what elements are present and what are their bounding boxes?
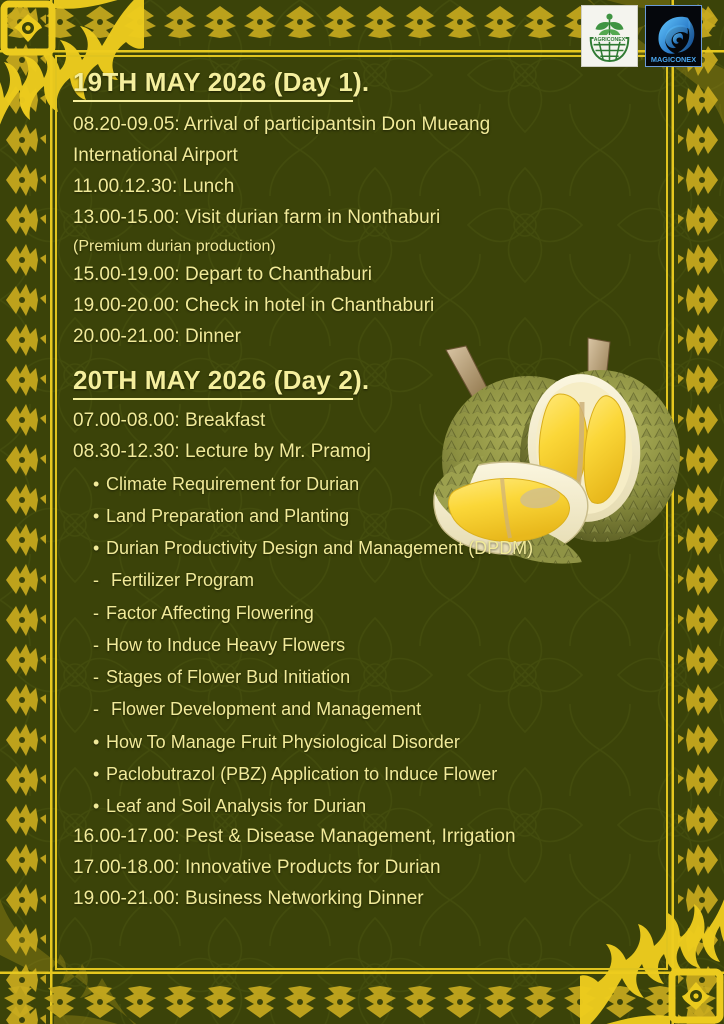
- list-marker: -: [93, 564, 106, 596]
- list-item: - Fertilizer Program: [73, 564, 650, 596]
- list-marker: -: [93, 693, 106, 725]
- day2-line-1: 07.00-08.00: Breakfast: [73, 406, 650, 437]
- day1-line-3: 11.00.12.30: Lunch: [73, 172, 650, 203]
- day1-line-2: International Airport: [73, 141, 650, 172]
- list-marker: •: [93, 726, 106, 758]
- list-marker: •: [93, 532, 106, 564]
- list-item-label: Fertilizer Program: [106, 570, 254, 590]
- day2-heading: 20TH MAY 2026 (Day 2).: [73, 365, 369, 398]
- day2-line-4: 17.00-18.00: Innovative Products for Dur…: [73, 853, 650, 884]
- list-marker: •: [93, 790, 106, 822]
- list-item: -Factor Affecting Flowering: [73, 597, 650, 629]
- border-ornament-bottom: [0, 968, 724, 1024]
- day1-heading: 19TH MAY 2026 (Day 1).: [73, 67, 369, 100]
- list-item: •Leaf and Soil Analysis for Durian: [73, 790, 650, 822]
- list-marker: -: [93, 661, 106, 693]
- day2-line-5: 19.00-21.00: Business Networking Dinner: [73, 884, 650, 915]
- border-ornament-left: [0, 0, 56, 1024]
- day2-line-2: 08.30-12.30: Lecture by Mr. Pramoj: [73, 437, 650, 468]
- day2-line-3: 16.00-17.00: Pest & Disease Management, …: [73, 822, 650, 853]
- list-marker: -: [93, 629, 106, 661]
- list-item-label: Stages of Flower Bud Initiation: [106, 667, 350, 687]
- itinerary-poster: AGRICONEX MAGICONEX 19TH MAY 2026 (Day 1…: [0, 0, 724, 1024]
- list-item-label: Climate Requirement for Durian: [106, 474, 359, 494]
- day1-line-8: 20.00-21.00: Dinner: [73, 322, 650, 353]
- list-item: •Paclobutrazol (PBZ) Application to Indu…: [73, 758, 650, 790]
- list-item: •Land Preparation and Planting: [73, 500, 650, 532]
- list-item: •Durian Productivity Design and Manageme…: [73, 532, 650, 564]
- lecture-topic-list: •Climate Requirement for Durian •Land Pr…: [73, 468, 650, 822]
- day1-heading-tail: ).: [353, 67, 369, 97]
- agriconex-logo-text: AGRICONEX: [594, 37, 626, 43]
- day2-heading-main: 20TH MAY 2026 (Day 2: [73, 365, 353, 400]
- day1-schedule-list: 08.20-09.05: Arrival of participantsin D…: [73, 110, 650, 353]
- day1-line-7: 19.00-20.00: Check in hotel in Chanthabu…: [73, 291, 650, 322]
- list-item: •Climate Requirement for Durian: [73, 468, 650, 500]
- list-item: •How To Manage Fruit Physiological Disor…: [73, 726, 650, 758]
- itinerary-content: 19TH MAY 2026 (Day 1). 08.20-09.05: Arri…: [55, 55, 668, 970]
- day1-line-1: 08.20-09.05: Arrival of participantsin D…: [73, 110, 650, 141]
- list-item: -Stages of Flower Bud Initiation: [73, 661, 650, 693]
- day2-heading-tail: ).: [353, 365, 369, 395]
- list-item-label: Factor Affecting Flowering: [106, 603, 314, 623]
- list-marker: •: [93, 758, 106, 790]
- list-marker: •: [93, 500, 106, 532]
- list-item-label: Paclobutrazol (PBZ) Application to Induc…: [106, 764, 497, 784]
- day1-line-6: 15.00-19.00: Depart to Chanthaburi: [73, 260, 650, 291]
- list-item: - Flower Development and Management: [73, 693, 650, 725]
- day1-line-4: 13.00-15.00: Visit durian farm in Nontha…: [73, 203, 650, 234]
- list-item: -How to Induce Heavy Flowers: [73, 629, 650, 661]
- border-ornament-right: [668, 0, 724, 1024]
- list-marker: •: [93, 468, 106, 500]
- list-item-label: Leaf and Soil Analysis for Durian: [106, 796, 366, 816]
- list-item-label: Durian Productivity Design and Managemen…: [106, 538, 533, 558]
- day1-heading-main: 19TH MAY 2026 (Day 1: [73, 67, 353, 102]
- day2-schedule-bottom: 16.00-17.00: Pest & Disease Management, …: [73, 822, 650, 915]
- day1-line-5: (Premium durian production): [73, 234, 650, 260]
- list-item-label: How To Manage Fruit Physiological Disord…: [106, 732, 460, 752]
- list-item-label: Flower Development and Management: [106, 699, 421, 719]
- list-marker: -: [93, 597, 106, 629]
- list-item-label: How to Induce Heavy Flowers: [106, 635, 345, 655]
- day2-schedule-top: 07.00-08.00: Breakfast 08.30-12.30: Lect…: [73, 406, 650, 468]
- list-item-label: Land Preparation and Planting: [106, 506, 349, 526]
